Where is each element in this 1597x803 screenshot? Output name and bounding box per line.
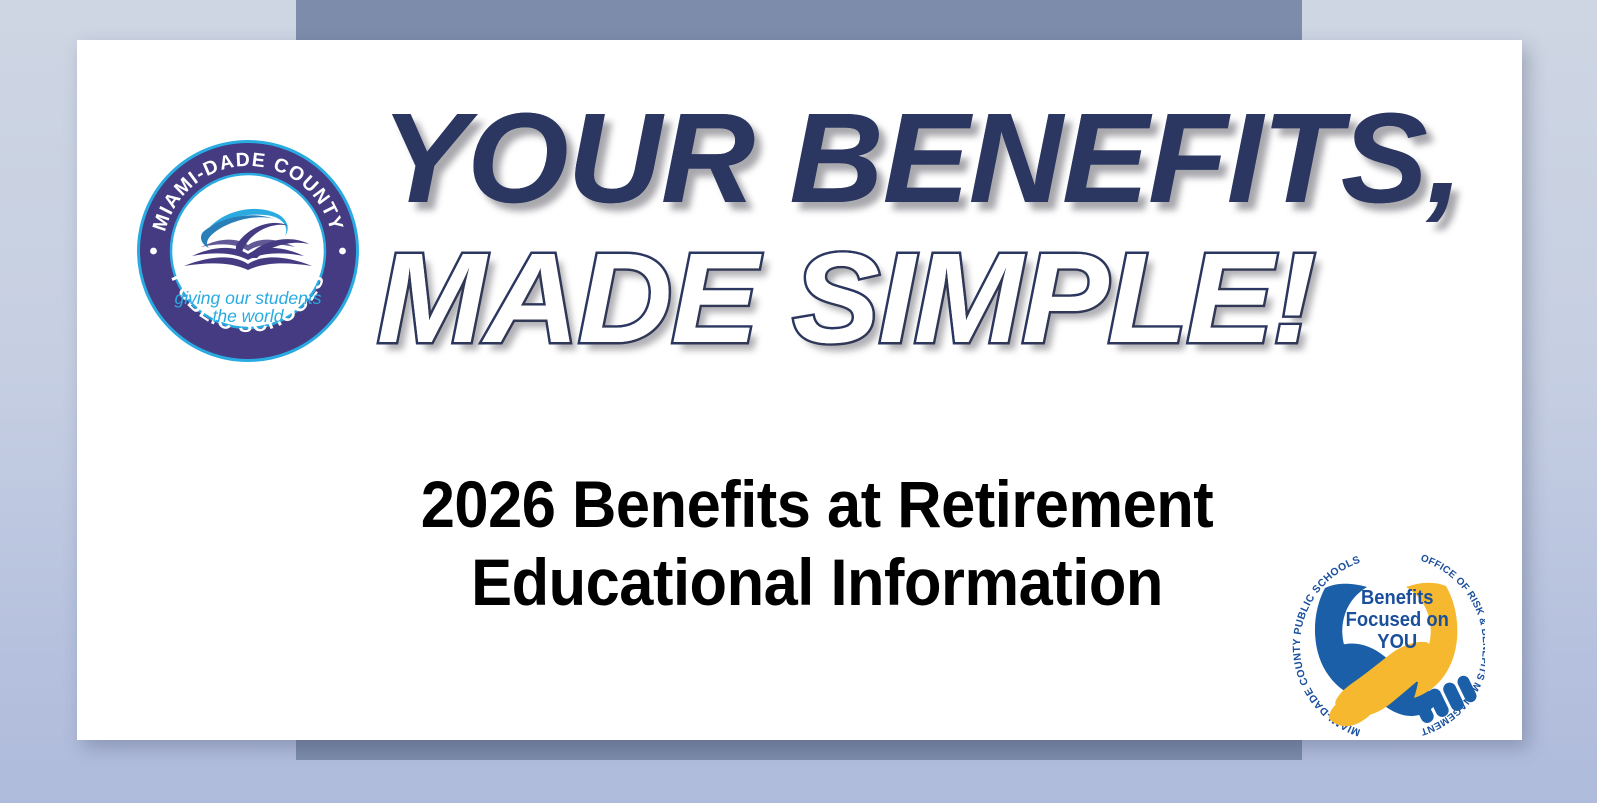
slide-subtitle: 2026 Benefits at Retirement Educational … <box>278 465 1357 621</box>
subtitle-line-2: Educational Information <box>278 543 1357 621</box>
headline-line-2-fill: MADE SIMPLE! <box>377 235 1315 363</box>
headline-line-1-fill: YOUR BENEFITS, <box>381 95 1462 223</box>
seal-motto-line2: the world <box>212 306 284 326</box>
headline-line-1: YOUR BENEFITS, YOUR BENEFITS, <box>381 95 1462 223</box>
seal-motto-line1: giving our students <box>175 288 322 308</box>
headline-line-2-stroke: MADE SIMPLE! <box>377 227 1315 370</box>
seal-dot-right <box>339 248 346 255</box>
rbm-center-line-1: Benefits <box>1361 587 1434 609</box>
mdcps-seal-logo: MIAMI-DADE COUNTY PUBLIC SCHOOLS <box>137 140 359 362</box>
slide-canvas: MIAMI-DADE COUNTY PUBLIC SCHOOLS <box>77 40 1522 740</box>
subtitle-line-1: 2026 Benefits at Retirement <box>278 465 1357 543</box>
headline-block: YOUR BENEFITS, YOUR BENEFITS, MADE SIMPL… <box>377 95 1437 405</box>
seal-dot-left <box>150 248 157 255</box>
rbm-center-line-3: YOU <box>1377 631 1417 653</box>
headline-line-2: MADE SIMPLE! MADE SIMPLE! <box>377 235 1315 363</box>
benefits-focused-on-you-logo: MIAMI-DADE COUNTY PUBLIC SCHOOLS OFFICE … <box>1285 548 1485 740</box>
rbm-center-line-2: Focused on <box>1346 609 1449 631</box>
headline-line-1-stroke: YOUR BENEFITS, <box>381 87 1462 230</box>
